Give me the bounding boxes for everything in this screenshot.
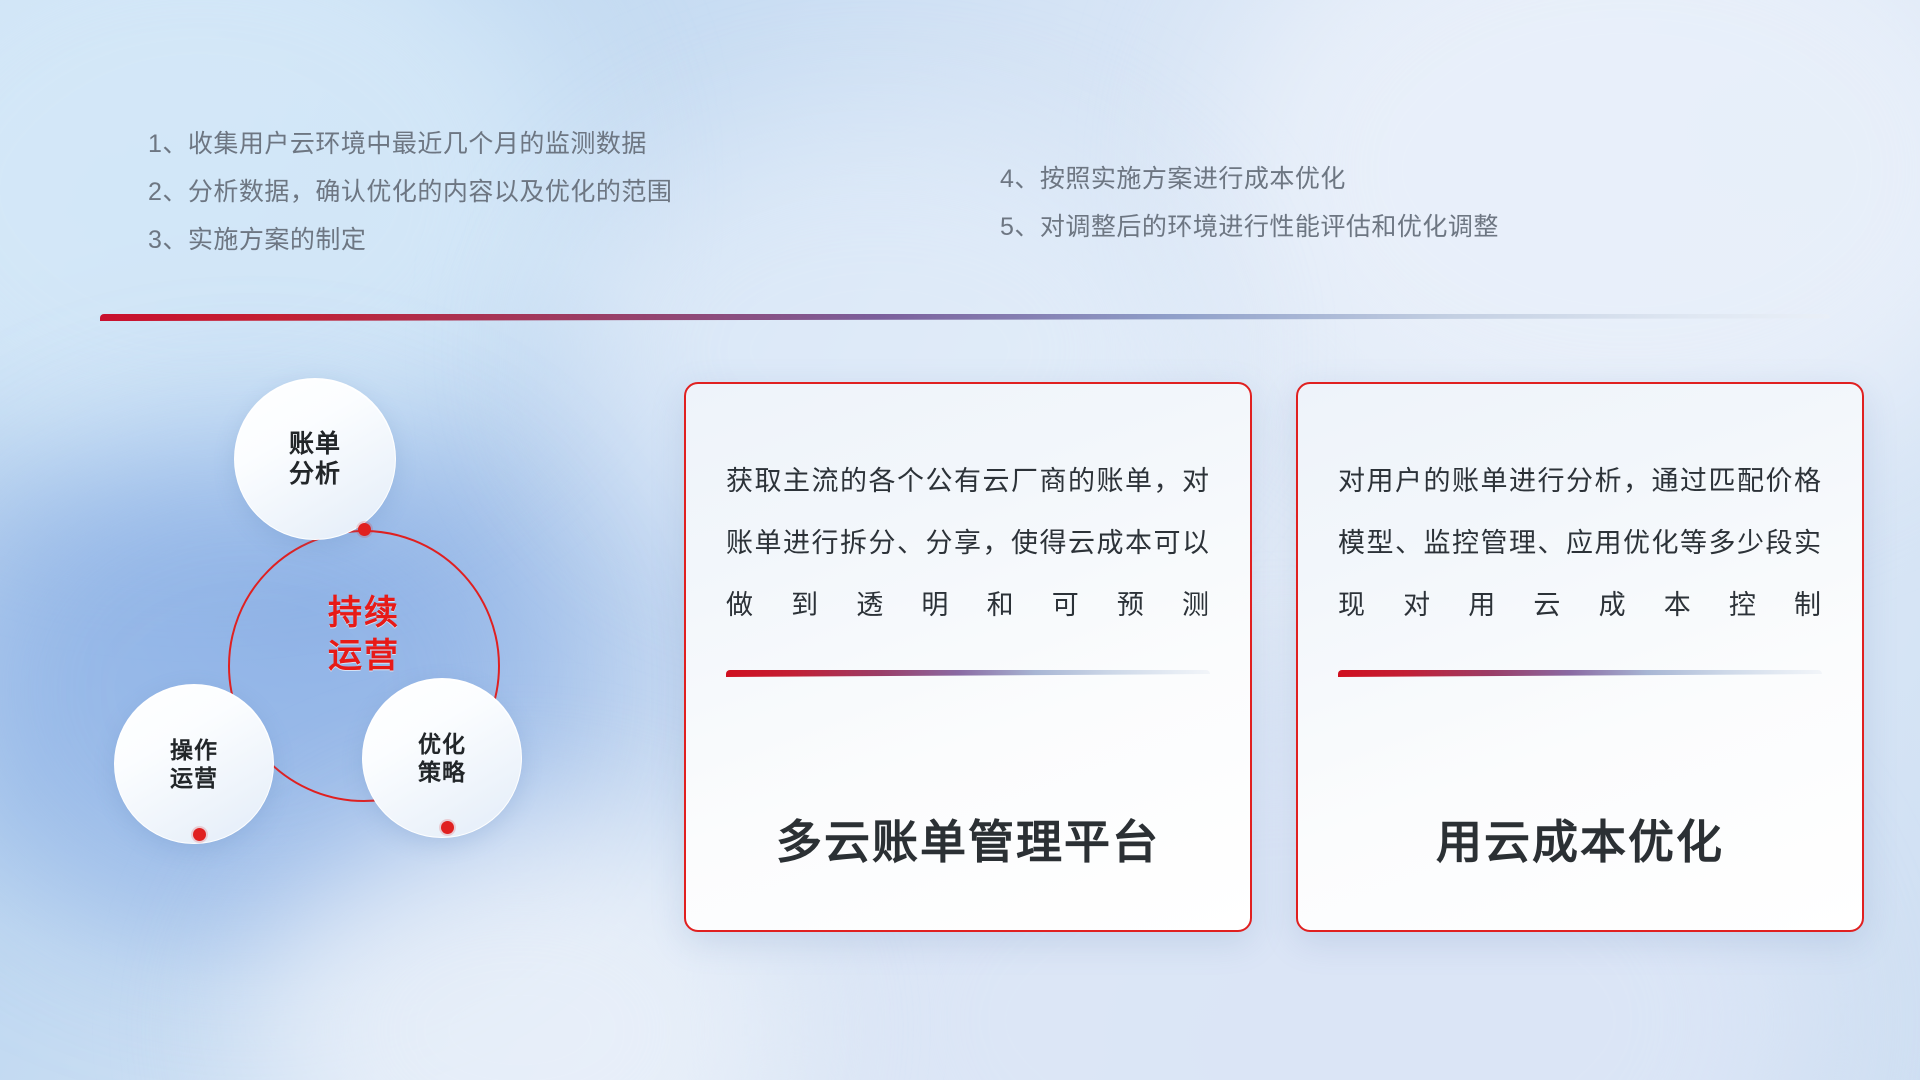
steps-left-column: 1、收集用户云环境中最近几个月的监测数据 2、分析数据，确认优化的内容以及优化的… bbox=[148, 120, 672, 264]
feature-card-multicloud-billing[interactable]: 获取主流的各个公有云厂商的账单，对账单进行拆分、分享，使得云成本可以做到透明和可… bbox=[684, 382, 1252, 932]
card-divider bbox=[726, 670, 1210, 677]
slide-canvas: 1、收集用户云环境中最近几个月的监测数据 2、分析数据，确认优化的内容以及优化的… bbox=[0, 0, 1920, 1080]
step-item-5: 5、对调整后的环境进行性能评估和优化调整 bbox=[1000, 203, 1499, 251]
diagram-center-line-2: 运营 bbox=[228, 635, 500, 678]
node-label-line-2: 策略 bbox=[418, 758, 466, 786]
card-body-text: 对用户的账单进行分析，通过匹配价格模型、监控管理、应用优化等多少段实现对用云成本… bbox=[1338, 450, 1822, 636]
feature-card-cloud-cost-optimization[interactable]: 对用户的账单进行分析，通过匹配价格模型、监控管理、应用优化等多少段实现对用云成本… bbox=[1296, 382, 1864, 932]
diagram-node-optimization-strategy[interactable]: 优化 策略 bbox=[362, 678, 522, 838]
diagram-node-dot-top bbox=[358, 523, 371, 536]
diagram-node-bill-analysis[interactable]: 账单 分析 bbox=[234, 378, 396, 540]
diagram-center-line-1: 持续 bbox=[228, 592, 500, 635]
diagram-node-operation[interactable]: 操作 运营 bbox=[114, 684, 274, 844]
card-title: 多云账单管理平台 bbox=[726, 806, 1210, 890]
node-label-line-2: 分析 bbox=[289, 459, 341, 490]
diagram-center-label: 持续 运营 bbox=[228, 592, 500, 678]
step-item-2: 2、分析数据，确认优化的内容以及优化的范围 bbox=[148, 168, 672, 216]
continuous-operation-diagram: 持续 运营 账单 分析 操作 运营 优化 策略 bbox=[96, 360, 616, 920]
node-label-line-1: 优化 bbox=[418, 730, 466, 758]
steps-right-column: 4、按照实施方案进行成本优化 5、对调整后的环境进行性能评估和优化调整 bbox=[1000, 155, 1499, 251]
step-item-1: 1、收集用户云环境中最近几个月的监测数据 bbox=[148, 120, 672, 168]
card-divider bbox=[1338, 670, 1822, 677]
step-item-3: 3、实施方案的制定 bbox=[148, 216, 672, 264]
node-label-line-1: 账单 bbox=[289, 429, 341, 460]
diagram-node-dot-right bbox=[441, 821, 454, 834]
node-label-line-2: 运营 bbox=[170, 764, 218, 792]
diagram-node-dot-left bbox=[193, 828, 206, 841]
section-divider bbox=[100, 314, 1830, 321]
node-label-line-1: 操作 bbox=[170, 736, 218, 764]
card-body-text: 获取主流的各个公有云厂商的账单，对账单进行拆分、分享，使得云成本可以做到透明和可… bbox=[726, 450, 1210, 636]
step-item-4: 4、按照实施方案进行成本优化 bbox=[1000, 155, 1499, 203]
card-title: 用云成本优化 bbox=[1338, 806, 1822, 890]
